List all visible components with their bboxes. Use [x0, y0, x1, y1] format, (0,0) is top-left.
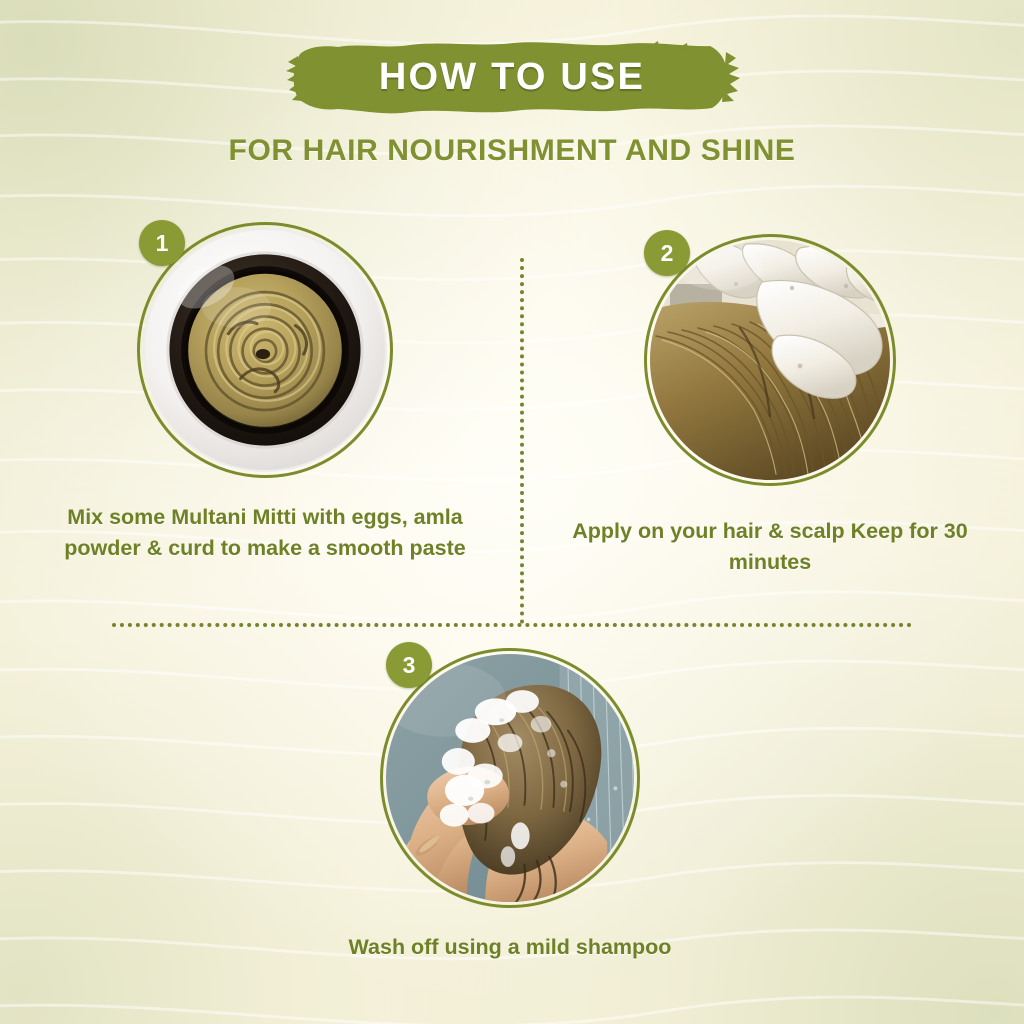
step-3-number-badge: 3: [386, 642, 432, 688]
vertical-dashed-divider: [520, 258, 524, 624]
step-2-caption: Apply on your hair & scalp Keep for 30 m…: [560, 516, 980, 578]
page-subtitle: FOR HAIR NOURISHMENT AND SHINE: [0, 134, 1024, 168]
step-2: 2 Apply on your hair & scalp Keep for 30…: [540, 234, 1000, 578]
title-brush-banner: HOW TO USE: [282, 38, 742, 116]
step-3: 3 Wash off using a mild shampoo: [280, 648, 740, 963]
how-to-use-infographic: HOW TO USE FOR HAIR NOURISHMENT AND SHIN…: [0, 0, 1024, 1024]
washing-hair-shampoo-image: [386, 654, 634, 902]
step-1-caption: Mix some Multani Mitti with eggs, amla p…: [55, 502, 475, 564]
applying-hair-mask-image: [650, 240, 890, 480]
horizontal-dashed-divider: [112, 623, 912, 627]
page-title: HOW TO USE: [282, 38, 742, 116]
step-2-photo-wrap: 2: [644, 234, 896, 486]
step-1-number-badge: 1: [139, 220, 185, 266]
step-3-photo-wrap: 3: [380, 648, 640, 908]
multani-mitti-paste-image: [143, 228, 387, 472]
header: HOW TO USE FOR HAIR NOURISHMENT AND SHIN…: [0, 38, 1024, 168]
step-1: 1 Mix some Multani Mitti with eggs, amla…: [30, 222, 500, 564]
step-1-photo-wrap: 1: [137, 222, 393, 478]
step-3-caption: Wash off using a mild shampoo: [300, 932, 720, 963]
step-2-number-badge: 2: [644, 230, 690, 276]
